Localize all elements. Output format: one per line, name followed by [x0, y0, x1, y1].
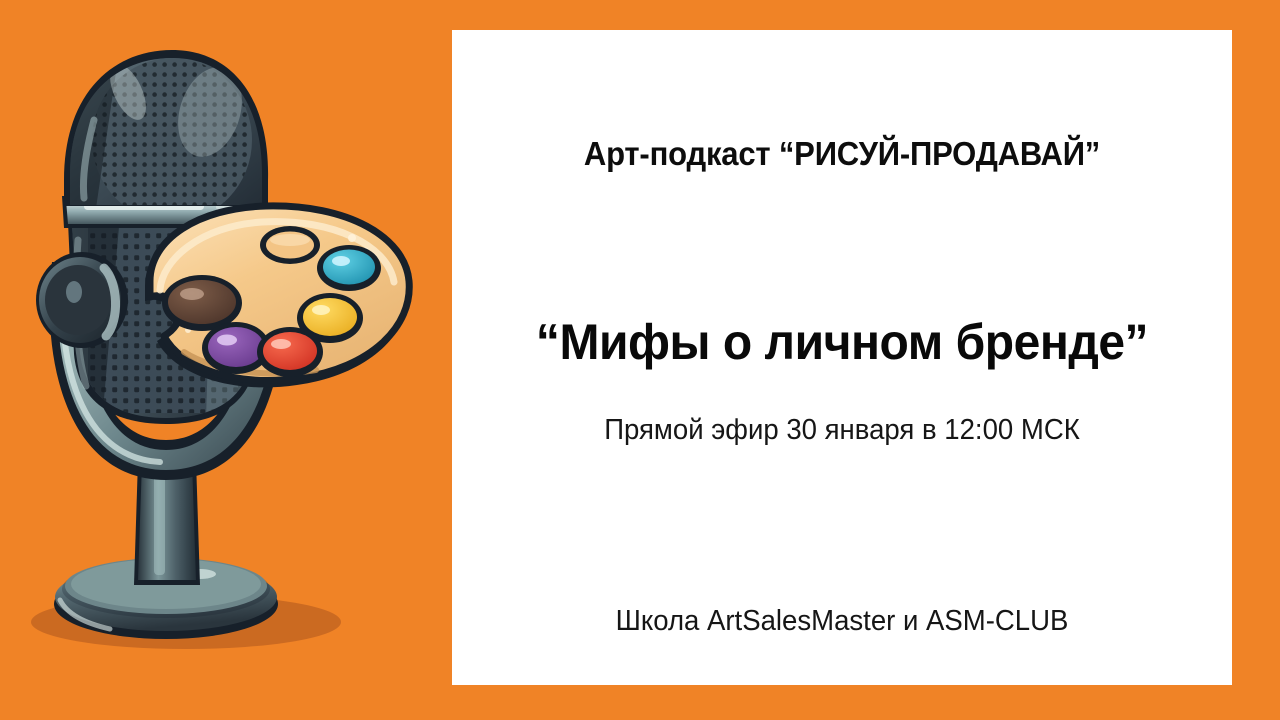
episode-headline: “Мифы о личном бренде”: [468, 313, 1217, 371]
poster-canvas: Арт-подкаст “РИСУЙ-ПРОДАВАЙ” “Мифы о лич…: [0, 0, 1280, 720]
announcement-card: Арт-подкаст “РИСУЙ-ПРОДАВАЙ” “Мифы о лич…: [452, 30, 1232, 685]
mic-knob: [36, 252, 128, 348]
microphone-palette-illustration: [0, 0, 450, 720]
paint-blob-red: [257, 327, 323, 377]
broadcast-datetime: Прямой эфир 30 января в 12:00 МСК: [472, 414, 1213, 447]
mic-head: [55, 45, 280, 222]
organizer-credit: Школа ArtSalesMaster и ASM-CLUB: [472, 605, 1213, 638]
paint-blob-teal: [317, 245, 381, 291]
palette-thumb-hole: [260, 226, 320, 264]
podcast-name: Арт-подкаст “РИСУЙ-ПРОДАВАЙ”: [475, 135, 1208, 173]
paint-palette: [145, 206, 409, 388]
